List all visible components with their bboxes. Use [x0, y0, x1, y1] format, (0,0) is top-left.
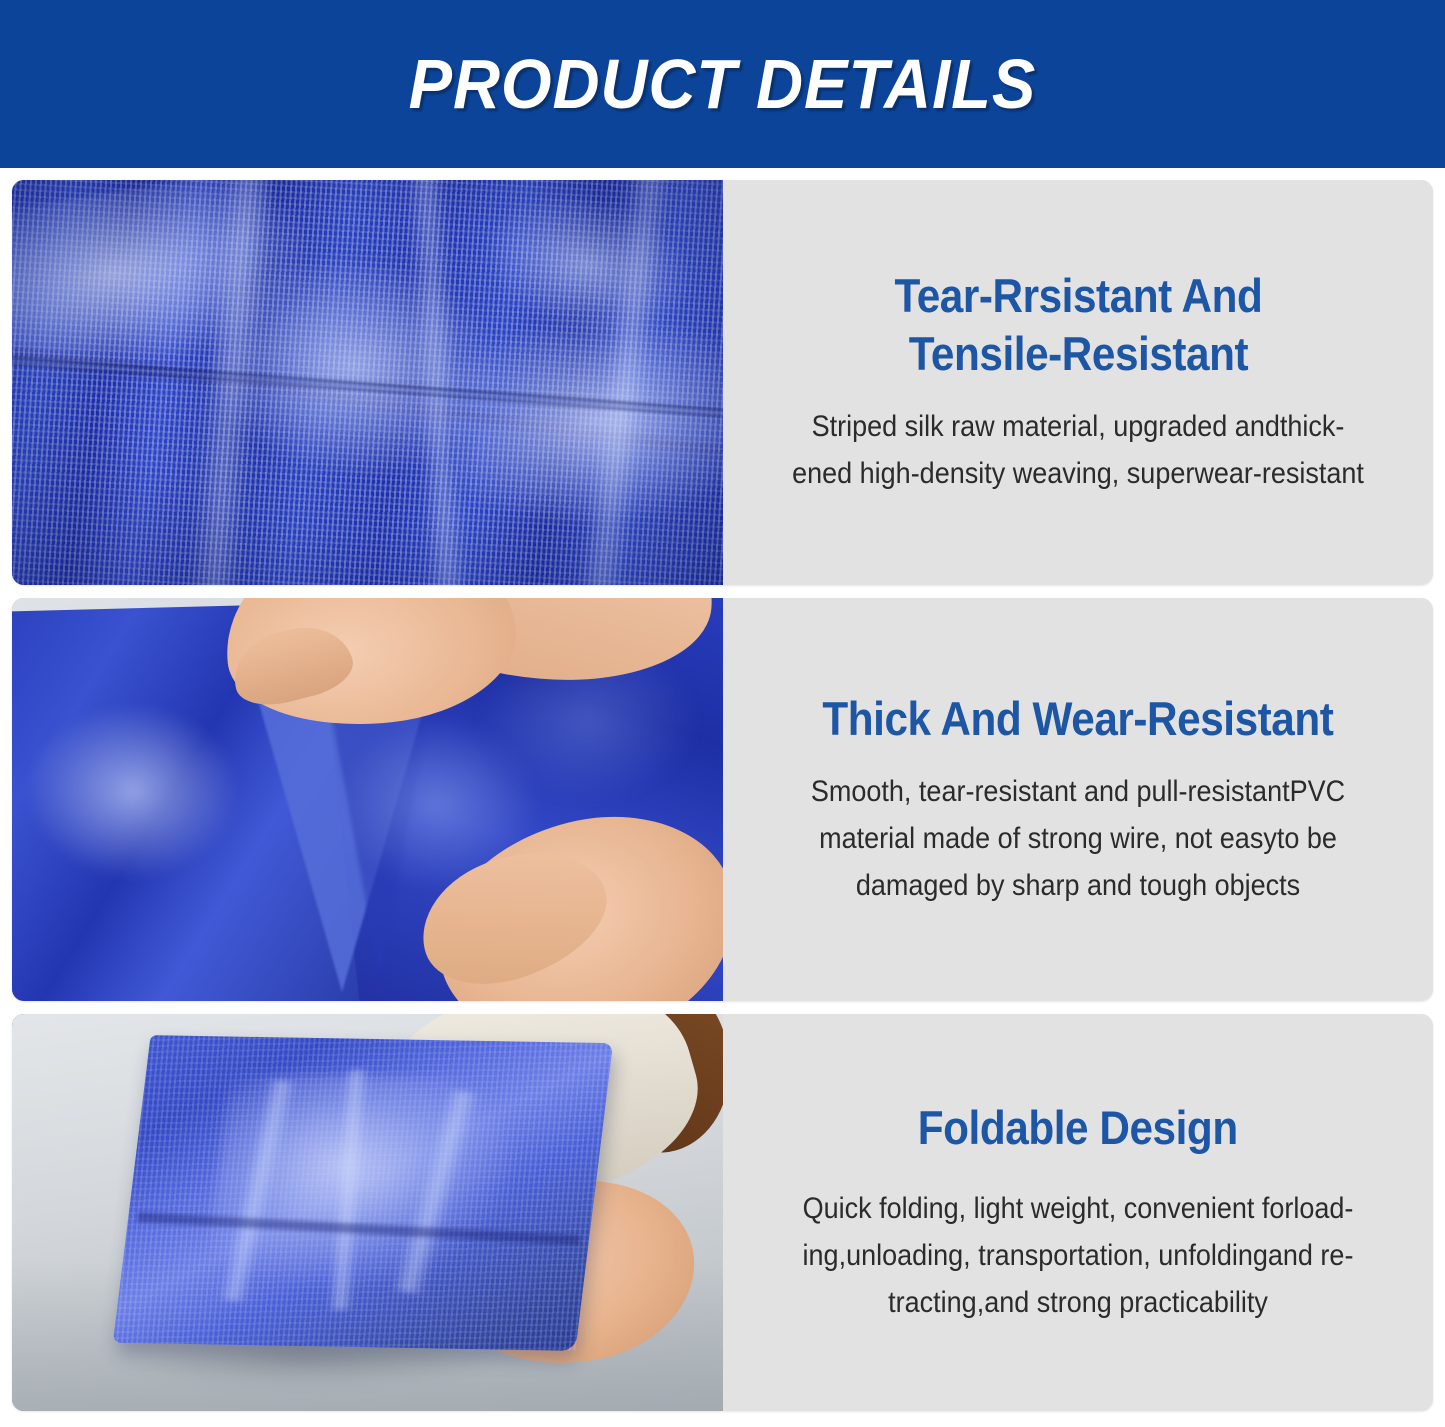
folded-tarp-photo — [12, 1014, 723, 1411]
pull-scene — [12, 598, 723, 1001]
product-details-header: PRODUCT DETAILS — [0, 0, 1445, 168]
page-title: PRODUCT DETAILS — [409, 44, 1037, 124]
feature-body-1: Striped silk raw material, upgraded andt… — [784, 404, 1373, 498]
feature-card-thick-wear-resistant: Thick And Wear-Resistant Smooth, tear-re… — [12, 598, 1433, 1001]
tarp-weave-photo — [12, 180, 723, 585]
feature-heading-2: Thick And Wear-Resistant — [822, 690, 1333, 747]
feature-heading-1-line-1: Tear-Rrsistant And — [894, 269, 1262, 322]
folded-tarp-bundle — [113, 1035, 613, 1351]
feature-text-block-2: Thick And Wear-Resistant Smooth, tear-re… — [723, 598, 1433, 1001]
feature-card-foldable-design: Foldable Design Quick folding, light wei… — [12, 1014, 1433, 1411]
feature-body-2: Smooth, tear-resistant and pull-resistan… — [784, 769, 1373, 909]
feature-text-block-1: Tear-Rrsistant And Tensile-Resistant Str… — [723, 180, 1433, 585]
feature-card-tear-resistant: Tear-Rrsistant And Tensile-Resistant Str… — [12, 180, 1433, 585]
feature-heading-1: Tear-Rrsistant And Tensile-Resistant — [894, 267, 1262, 382]
tarp-gloss-left — [26, 703, 239, 880]
feature-card-list: Tear-Rrsistant And Tensile-Resistant Str… — [0, 168, 1445, 1423]
fold-scene — [12, 1014, 723, 1411]
feature-text-block-3: Foldable Design Quick folding, light wei… — [723, 1014, 1433, 1411]
hands-pulling-tarp-photo — [12, 598, 723, 1001]
feature-body-3: Quick folding, light weight, convenient … — [784, 1186, 1373, 1326]
feature-heading-3: Foldable Design — [918, 1099, 1238, 1156]
tarp-vignette — [12, 180, 723, 585]
feature-heading-1-line-2: Tensile-Resistant — [908, 327, 1247, 380]
